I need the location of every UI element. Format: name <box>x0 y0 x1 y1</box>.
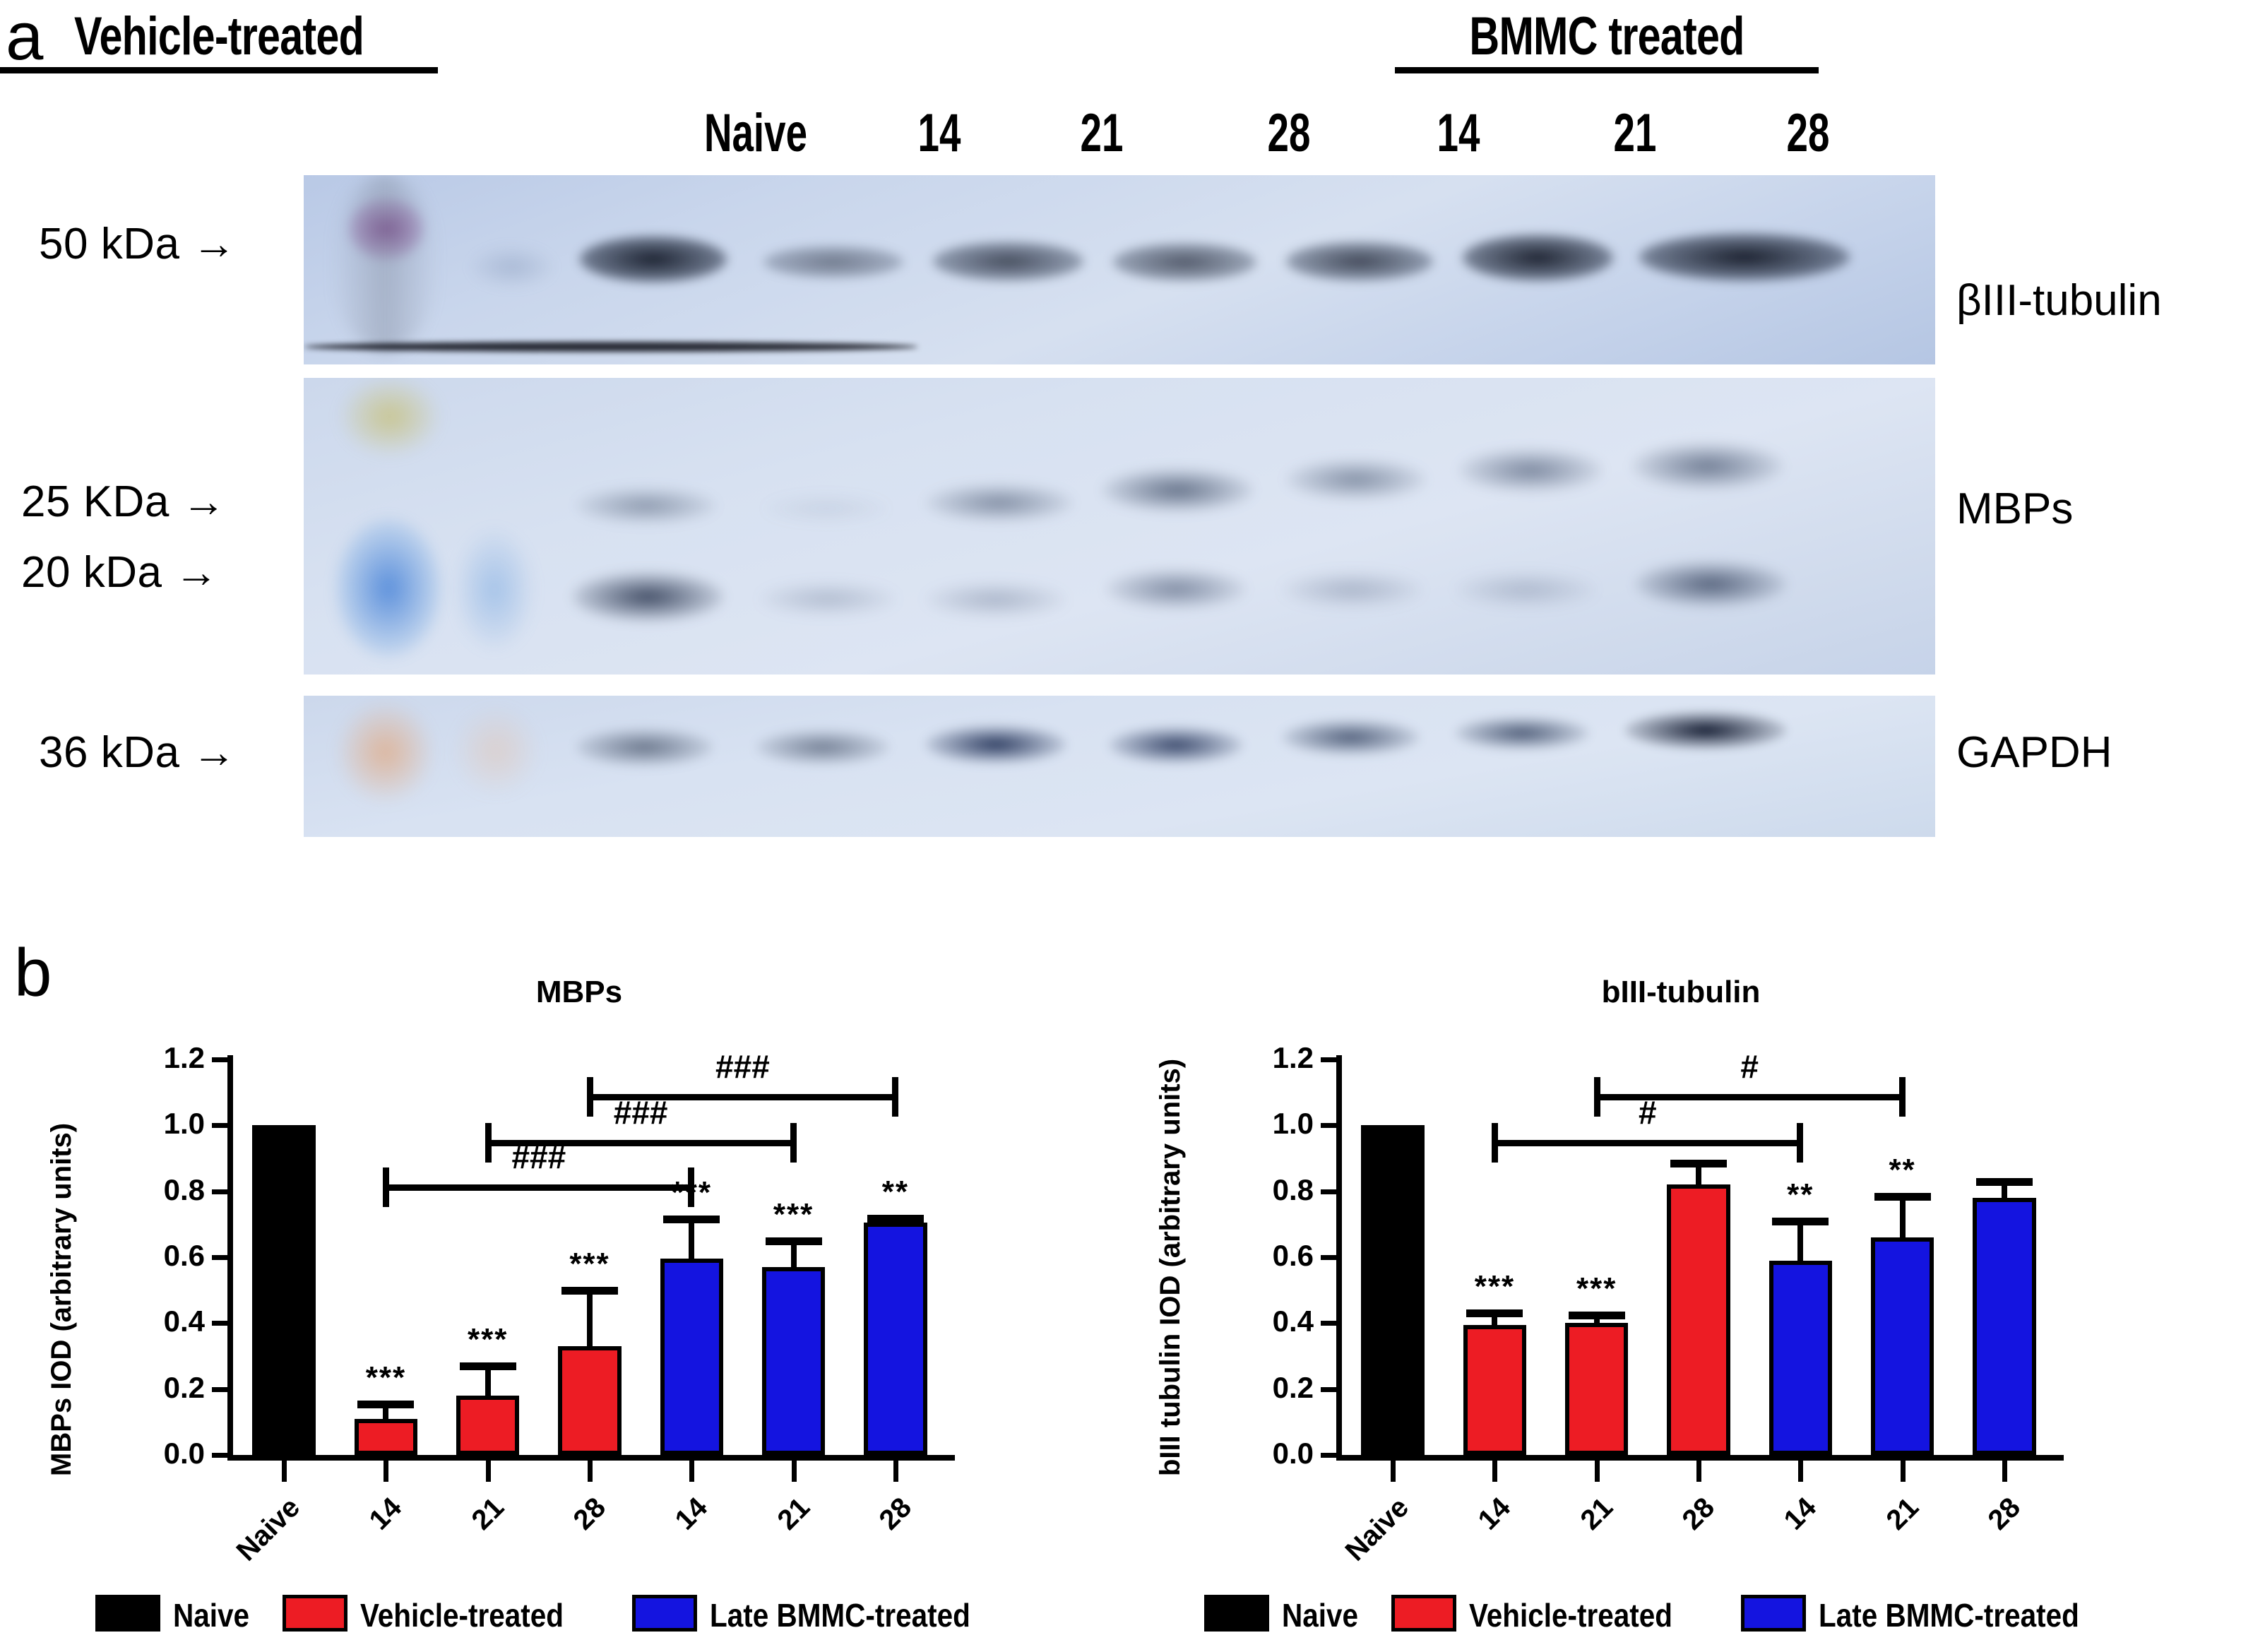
biii-tubulin-chart-legend-label-bmmc: Late BMMC-treated <box>1819 1596 2079 1634</box>
biii-tubulin-chart-y-tickmark <box>1321 1189 1338 1194</box>
biii-tubulin-chart-bar[interactable] <box>1361 1125 1424 1455</box>
biii-tubulin-chart-x-tick-label: 14 <box>1420 1492 1517 1589</box>
biii-tubulin-chart-x-tick-label: 21 <box>1522 1492 1619 1589</box>
blot-band <box>1285 242 1434 281</box>
blot-panel-mbps <box>304 378 1935 675</box>
biii-tubulin-chart-error-bar-cap <box>1976 1178 2033 1186</box>
biii-tubulin-chart-error-bar-cap <box>1772 1218 1829 1225</box>
mbps-chart-comparison-bracket-label: ### <box>665 1047 820 1086</box>
mbps-chart-error-bar <box>689 1219 694 1259</box>
group-header-bmmc: BMMC treated <box>1395 6 1819 73</box>
blot-band <box>1105 569 1247 610</box>
blot-band <box>763 246 904 278</box>
mbps-chart-significance-marker: *** <box>424 1322 552 1357</box>
blot-band <box>759 583 897 615</box>
blot-band <box>1635 561 1787 607</box>
biii-tubulin-chart-error-bar-cap <box>1569 1312 1625 1319</box>
biii-tubulin-chart-error-bar <box>1797 1221 1803 1261</box>
lane-label-vehicle-28: 28 <box>1238 102 1340 164</box>
mbps-chart-title: MBPs <box>438 975 720 1010</box>
biii-tubulin-chart-title: bIII-tubulin <box>1540 975 1822 1010</box>
biii-tubulin-chart-y-tick-label: 0.0 <box>1218 1437 1314 1470</box>
blot-band <box>1624 711 1787 749</box>
panel-b-letter: b <box>14 939 52 1007</box>
mbps-chart-y-tick-label: 0.0 <box>109 1437 205 1470</box>
blot-band <box>1462 234 1614 281</box>
mbps-chart-comparison-bracket-end <box>688 1167 694 1207</box>
blot-band <box>925 484 1074 522</box>
biii-tubulin-chart-x-tickmark <box>2002 1461 2007 1482</box>
blot-band <box>1631 443 1783 489</box>
blot-band <box>756 730 890 765</box>
biii-tubulin-chart-y-axis-title: bIII tubulin IOD (arbitrary units) <box>1155 1059 1187 1476</box>
biii-tubulin-chart-significance-marker: *** <box>1533 1271 1660 1307</box>
biii-tubulin-chart-bar[interactable] <box>1769 1261 1832 1455</box>
blot-band <box>1639 233 1850 281</box>
biii-tubulin-chart-x-tickmark <box>1492 1461 1497 1482</box>
mbps-chart-error-bar <box>587 1290 593 1346</box>
group-header-bmmc-label: BMMC treated <box>1441 6 1772 67</box>
blot-panel-gapdh <box>304 696 1935 837</box>
biii-tubulin-chart-legend-swatch-vehicle <box>1391 1595 1456 1632</box>
protein-label-gapdh: GAPDH <box>1956 727 2112 778</box>
mbps-chart-legend-swatch-vehicle <box>283 1595 347 1632</box>
biii-tubulin-chart-legend-swatch-bmmc <box>1741 1595 1806 1632</box>
blot-background <box>304 378 1935 675</box>
blot-band <box>1109 727 1243 763</box>
mbps-chart-bar[interactable] <box>456 1396 519 1455</box>
biii-tubulin-chart-x-tickmark <box>1696 1461 1701 1482</box>
biii-tubulin-chart-significance-marker: ** <box>1839 1153 1966 1188</box>
mbps-chart-x-tick-label: 14 <box>311 1492 408 1589</box>
mbps-chart-legend-label-vehicle: Vehicle-treated <box>360 1596 564 1634</box>
blot-panel-biii-tubulin <box>304 175 1935 364</box>
biii-tubulin-chart-x-tickmark <box>1595 1461 1600 1482</box>
lane-label-vehicle-14: 14 <box>888 102 990 164</box>
mbps-chart-y-tick-label: 1.2 <box>109 1041 205 1075</box>
mbps-chart-y-tickmark <box>212 1057 229 1062</box>
mbps-chart-y-tick-label: 0.8 <box>109 1173 205 1207</box>
mw-marker-20kda: 20 kDa → <box>21 547 219 598</box>
mbps-chart-comparison-bracket-line <box>590 1094 896 1100</box>
ladder-faint-lane2 <box>470 246 554 288</box>
mbps-chart-error-bar-cap <box>460 1362 516 1370</box>
biii-tubulin-chart-legend-label-naive: Naive <box>1282 1596 1358 1634</box>
mbps-chart-y-tickmark <box>212 1321 229 1326</box>
mw-marker-36kda: 36 kDa → <box>39 727 237 778</box>
biii-tubulin-chart-y-tick-label: 1.0 <box>1218 1107 1314 1141</box>
blot-band <box>572 572 724 622</box>
mbps-chart-legend-label-naive: Naive <box>173 1596 249 1634</box>
mbps-chart-comparison-bracket-line <box>488 1140 794 1146</box>
mbps-chart-comparison-bracket-end <box>892 1077 898 1117</box>
mbps-chart-x-tick-label: 21 <box>718 1492 816 1589</box>
blot-band <box>932 242 1084 281</box>
biii-tubulin-chart-bar[interactable] <box>1463 1325 1526 1455</box>
mbps-chart-x-tick-label: 28 <box>821 1492 918 1589</box>
biii-tubulin-chart-comparison-bracket-line <box>1597 1094 1903 1100</box>
mbps-chart-error-bar <box>485 1366 491 1396</box>
mw-marker-25kda: 25 KDa → <box>21 477 226 527</box>
blot-band <box>1455 572 1596 607</box>
mbps-chart-bar[interactable] <box>252 1125 315 1455</box>
biii-tubulin-chart-y-tickmark <box>1321 1453 1338 1458</box>
biii-tubulin-chart-y-tick-label: 0.4 <box>1218 1305 1314 1338</box>
group-header-vehicle: Vehicle-treated <box>0 6 438 73</box>
blot-band <box>1282 572 1423 607</box>
mbps-chart-bar[interactable] <box>355 1419 417 1455</box>
ladder-smear-blue-faint <box>456 530 533 650</box>
biii-tubulin-chart-x-tick-label: 28 <box>1930 1492 2027 1589</box>
biii-tubulin-chart-y-tick-label: 0.6 <box>1218 1239 1314 1273</box>
mbps-chart-comparison-bracket-end <box>485 1123 492 1163</box>
biii-tubulin-chart-comparison-bracket-end <box>1899 1077 1906 1117</box>
mbps-chart-comparison-bracket-end <box>383 1167 389 1207</box>
mbps-chart-bar[interactable] <box>762 1267 825 1455</box>
biii-tubulin-chart-comparison-bracket-end <box>1594 1077 1600 1117</box>
mbps-chart-y-tickmark <box>212 1189 229 1194</box>
lane-label-vehicle-21: 21 <box>1051 102 1153 164</box>
mbps-chart-x-tickmark <box>893 1461 898 1482</box>
biii-tubulin-chart-x-tickmark <box>1901 1461 1906 1482</box>
mbps-chart-legend-swatch-naive <box>95 1595 160 1632</box>
protein-label-mbps: MBPs <box>1956 484 2073 534</box>
mbps-chart-bar[interactable] <box>660 1259 723 1455</box>
mbps-chart-legend-label-bmmc: Late BMMC-treated <box>710 1596 970 1634</box>
group-header-vehicle-label: Vehicle-treated <box>48 6 390 67</box>
biii-tubulin-chart-bar[interactable] <box>1667 1184 1730 1455</box>
mbps-chart-significance-marker: *** <box>322 1360 449 1396</box>
biii-tubulin-chart-x-tickmark <box>1798 1461 1803 1482</box>
mbps-chart-y-tickmark <box>212 1123 229 1128</box>
ladder-smear-orange-faint <box>456 708 537 793</box>
mbps-chart-x-tick-label: 21 <box>413 1492 511 1589</box>
mbps-chart-error-bar-cap <box>663 1216 720 1223</box>
ladder-smear-orange <box>338 703 433 802</box>
blot-band <box>1102 468 1254 512</box>
blot-band <box>579 236 727 283</box>
mbps-chart-y-tick-label: 0.4 <box>109 1305 205 1338</box>
mbps-chart-x-tick-label: 28 <box>515 1492 612 1589</box>
biii-tubulin-chart-x-tick-label: 14 <box>1725 1492 1823 1589</box>
group-header-bmmc-rule <box>1395 67 1819 73</box>
group-header-vehicle-rule <box>0 67 438 73</box>
mbps-chart-x-tickmark <box>486 1461 491 1482</box>
biii-tubulin-chart-y-tick-label: 1.2 <box>1218 1041 1314 1075</box>
mbps-chart-bar[interactable] <box>864 1223 927 1455</box>
blot-band <box>1455 717 1589 749</box>
biii-tubulin-chart-error-bar <box>1900 1196 1906 1237</box>
biii-tubulin-chart-error-bar-cap <box>1466 1309 1523 1317</box>
mbps-chart-x-tickmark <box>588 1461 593 1482</box>
biii-tubulin-chart-x-tick-label: Naive <box>1318 1492 1415 1589</box>
biii-tubulin-chart-bar[interactable] <box>1565 1323 1628 1455</box>
biii-tubulin-chart-comparison-bracket-end <box>1797 1123 1803 1163</box>
biii-tubulin-chart-legend-label-vehicle: Vehicle-treated <box>1469 1596 1672 1634</box>
ladder-smear-yellow <box>340 378 439 456</box>
lane-label-bmmc-21: 21 <box>1584 102 1686 164</box>
mbps-chart-y-tick-label: 0.6 <box>109 1239 205 1273</box>
mbps-chart-error-bar-cap <box>357 1401 414 1408</box>
mbps-chart-comparison-bracket-end <box>587 1077 593 1117</box>
blot-band <box>763 494 890 523</box>
biii-tubulin-chart-y-tickmark <box>1321 1255 1338 1260</box>
mbps-chart-error-bar-cap <box>867 1215 924 1223</box>
biii-tubulin-chart-comparison-bracket-end <box>1492 1123 1498 1163</box>
biii-tubulin-chart-y-tick-label: 0.8 <box>1218 1173 1314 1207</box>
biii-tubulin-chart-y-tickmark <box>1321 1321 1338 1326</box>
blot-band <box>1112 243 1257 281</box>
lane-label-naive: Naive <box>684 102 827 164</box>
mbps-chart-x-tick-label: Naive <box>209 1492 307 1589</box>
mbps-chart-x-tickmark <box>689 1461 694 1482</box>
protein-label-biii-tubulin: βIII-tubulin <box>1956 275 2162 326</box>
blot-band <box>1458 448 1603 492</box>
mbps-chart-error-bar-cap <box>561 1287 618 1295</box>
biii-tubulin-chart-error-bar-cap <box>1670 1160 1727 1167</box>
mbps-chart-y-tick-label: 1.0 <box>109 1107 205 1141</box>
mbps-chart-x-tickmark <box>384 1461 388 1482</box>
biii-tubulin-chart-y-tickmark <box>1321 1387 1338 1392</box>
mbps-chart-x-tick-label: 14 <box>617 1492 714 1589</box>
ladder-smear-grey <box>332 175 438 352</box>
mbps-chart-comparison-bracket-end <box>790 1123 797 1163</box>
blot-band <box>925 725 1066 763</box>
biii-tubulin-chart-y-tickmark <box>1321 1123 1338 1128</box>
biii-tubulin-chart-x-tick-label: 21 <box>1827 1492 1925 1589</box>
blot-band <box>1285 459 1427 500</box>
biii-tubulin-chart-y-tickmark <box>1321 1057 1338 1062</box>
mw-marker-50kda: 50 kDa → <box>39 219 237 269</box>
blot-band <box>925 583 1066 617</box>
blot-band <box>1282 720 1420 755</box>
mbps-chart-x-tickmark <box>792 1461 797 1482</box>
ladder-smear-blue <box>335 519 441 657</box>
biii-tubulin-chart-x-tick-label: 28 <box>1624 1492 1721 1589</box>
blot-lower-edge <box>304 342 918 352</box>
biii-tubulin-chart-x-tickmark <box>1391 1461 1396 1482</box>
lane-label-bmmc-14: 14 <box>1408 102 1509 164</box>
lane-label-bmmc-28: 28 <box>1757 102 1859 164</box>
mbps-chart-y-tick-label: 0.2 <box>109 1371 205 1405</box>
mbps-chart-legend-swatch-bmmc <box>632 1595 697 1632</box>
biii-tubulin-chart-legend-swatch-naive <box>1204 1595 1269 1632</box>
mbps-chart-y-axis-title: MBPs IOD (arbitrary units) <box>46 1123 78 1476</box>
biii-tubulin-chart-comparison-bracket-label: # <box>1672 1047 1827 1086</box>
mbps-chart-comparison-bracket-line <box>386 1184 691 1191</box>
mbps-chart-significance-marker: ** <box>832 1175 959 1210</box>
blot-band <box>576 487 717 524</box>
mbps-chart-y-tickmark <box>212 1387 229 1392</box>
biii-tubulin-chart-bar[interactable] <box>1871 1237 1934 1455</box>
blot-band <box>576 728 713 766</box>
mbps-chart-bar[interactable] <box>558 1346 621 1455</box>
mbps-chart-significance-marker: *** <box>526 1247 653 1282</box>
mbps-chart-x-tickmark <box>282 1461 287 1482</box>
biii-tubulin-chart-bar[interactable] <box>1973 1198 2035 1455</box>
mbps-chart-x-axis-line <box>227 1455 955 1461</box>
biii-tubulin-chart-y-tick-label: 0.2 <box>1218 1371 1314 1405</box>
biii-tubulin-chart-comparison-bracket-line <box>1494 1140 1800 1146</box>
biii-tubulin-chart-error-bar-cap <box>1874 1193 1931 1201</box>
biii-tubulin-chart-x-axis-line <box>1336 1455 2064 1461</box>
mbps-chart-y-tickmark <box>212 1255 229 1260</box>
mbps-chart-error-bar-cap <box>766 1237 822 1245</box>
mbps-chart-y-tickmark <box>212 1453 229 1458</box>
